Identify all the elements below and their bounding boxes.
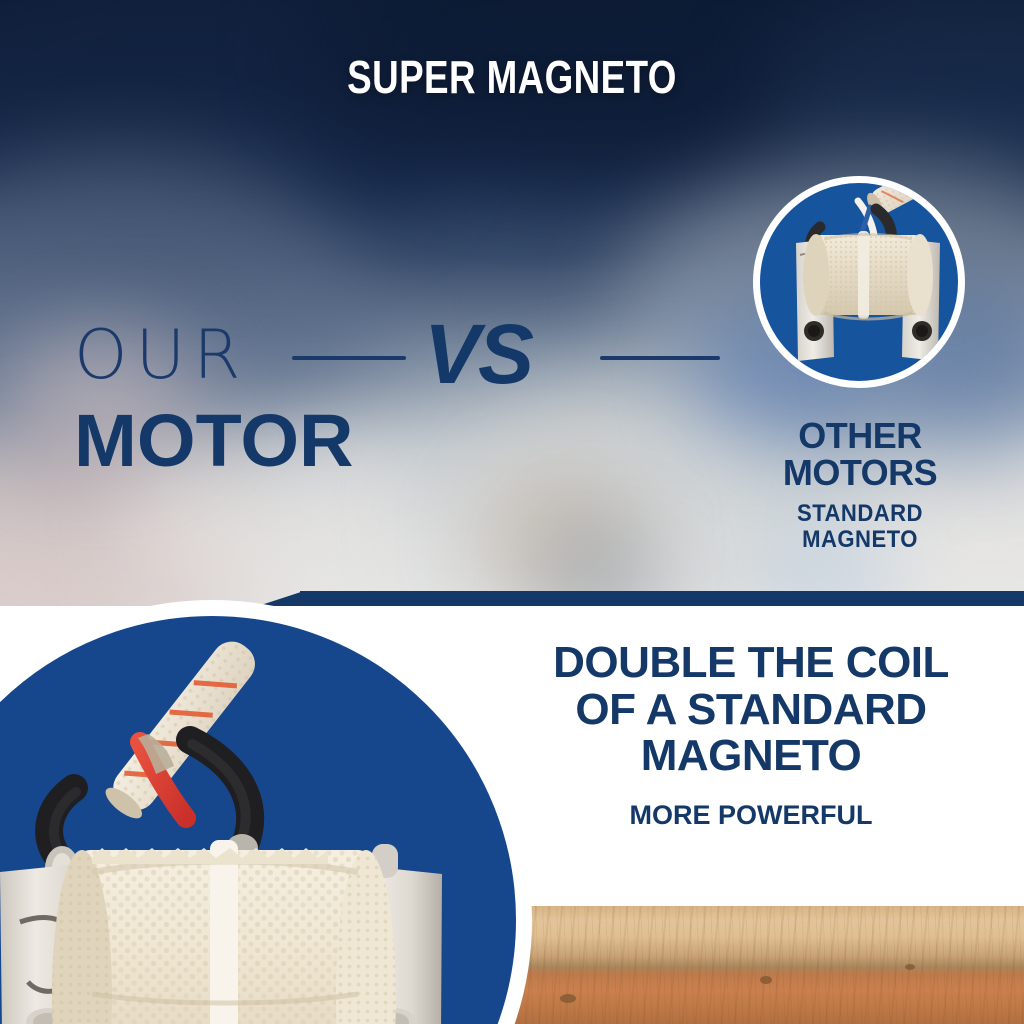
- motors-label: MOTORS: [700, 455, 1020, 492]
- our-motor-label: OUR MOTOR: [74, 322, 434, 478]
- magneto-label: MAGNETO: [713, 527, 1007, 552]
- standard-magneto-sublabel: STANDARD MAGNETO: [713, 501, 1007, 552]
- vs-rule-right: [600, 356, 720, 360]
- wood-knot: [560, 994, 576, 1003]
- wood-knot: [905, 964, 915, 970]
- callout-text-block: DOUBLE THE COIL OF A STANDARD MAGNETO MO…: [508, 640, 994, 831]
- page-title: SUPER MAGNETO: [102, 50, 921, 104]
- headline-line-2: OF A STANDARD: [508, 687, 994, 734]
- wood-knot: [760, 976, 772, 984]
- callout-headline: DOUBLE THE COIL OF A STANDARD MAGNETO: [508, 640, 994, 780]
- other-motor-photo-circle: [753, 176, 965, 388]
- magneto-coil-photo-small: [754, 176, 965, 388]
- our-motor-photo-circle: [0, 600, 532, 1024]
- vs-label: VS: [424, 312, 532, 396]
- headline-line-1: DOUBLE THE COIL: [508, 640, 994, 687]
- headline-line-3: MAGNETO: [508, 733, 994, 780]
- other-motors-title: OTHER MOTORS: [700, 418, 1020, 491]
- standard-label: STANDARD: [713, 501, 1007, 526]
- vs-rule-left: [292, 356, 406, 360]
- motor-label: MOTOR: [74, 404, 441, 478]
- poster-canvas: SUPER MAGNETO OUR MOTOR VS: [0, 0, 1024, 1024]
- callout-subline: MORE POWERFUL: [508, 800, 994, 831]
- magneto-coil-photo-large: [0, 622, 502, 1024]
- other-motors-label: OTHER MOTORS STANDARD MAGNETO: [700, 418, 1020, 552]
- navy-divider-bar: [300, 591, 1024, 606]
- other-label: OTHER: [700, 418, 1020, 455]
